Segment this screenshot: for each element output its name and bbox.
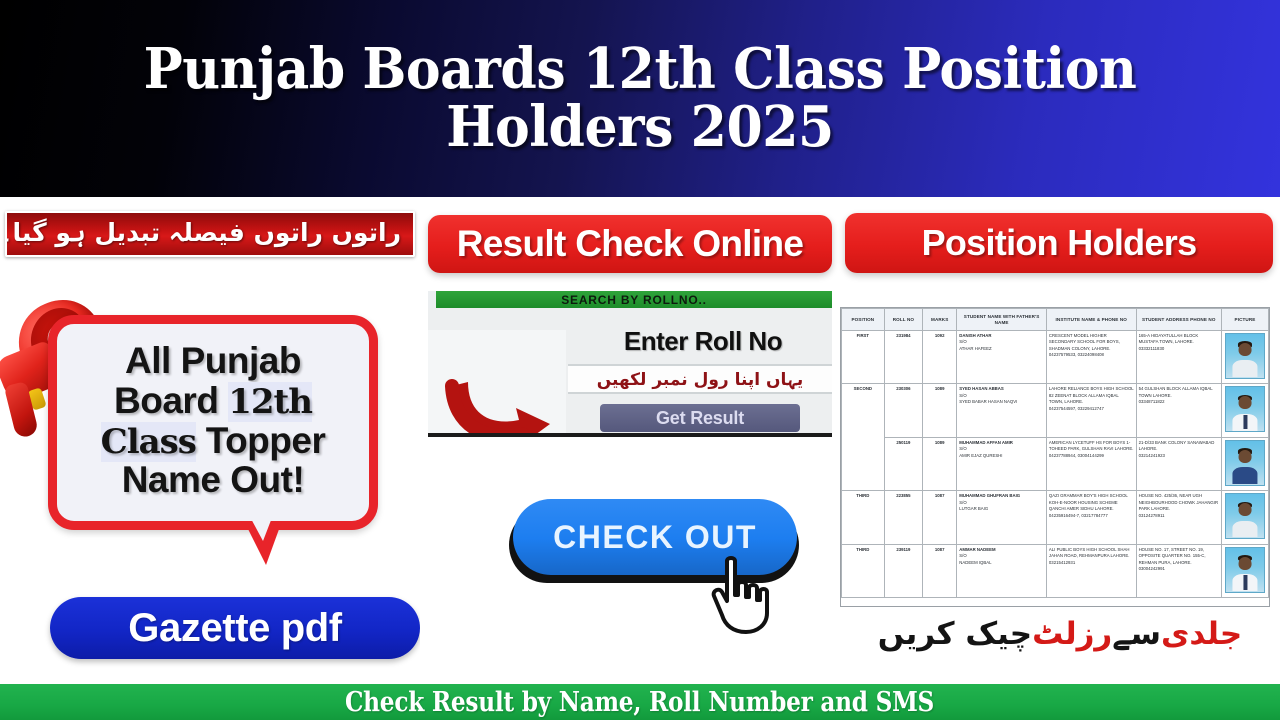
result-check-online-label: Result Check Online xyxy=(457,223,804,265)
cell-picture xyxy=(1221,331,1268,384)
cell-position: FIRST xyxy=(842,331,885,384)
institute-phone: 04235916494-7, 03217784777 xyxy=(1049,513,1108,518)
institute-phone: 04237788944, 03004144299 xyxy=(1049,453,1104,458)
table-row: 250119 1089 MUHAMMAD AFFAN AMIR S/O AMIR… xyxy=(842,437,1269,490)
bubble-highlight-12th: 12th xyxy=(228,382,312,422)
checkout-label: CHECK OUT xyxy=(553,519,757,556)
position-holders-label: Position Holders xyxy=(922,222,1197,264)
student-phone: 03348711822 xyxy=(1139,399,1165,404)
get-result-label: Get Result xyxy=(656,408,744,429)
cell-marks: 1089 xyxy=(923,384,957,437)
cell-institute: QAZI GRAMMAR BOY'S HIGH SCHOOL KOH-E-NOO… xyxy=(1046,491,1136,544)
search-by-rollno-label: SEARCH BY ROLLNO.. xyxy=(561,293,707,307)
cell-roll-no: 231984 xyxy=(884,331,922,384)
student-name: SYED HASAN ABBAS xyxy=(959,386,1044,392)
right-panel: Position Holders POSITION ROLL NO MARKS … xyxy=(840,197,1280,684)
position-holders-table[interactable]: POSITION ROLL NO MARKS STUDENT NAME WITH… xyxy=(840,307,1270,607)
student-name: DANISH ATHAR xyxy=(959,333,1044,339)
table-row: THIRD 223855 1087 MUHAMMAD GHUFRAN BAIG … xyxy=(842,491,1269,544)
table-row: SECOND 230306 1089 SYED HASAN ABBAS S/O … xyxy=(842,384,1269,437)
father-name: ATHAR HAFEEZ xyxy=(959,346,991,351)
cell-student-name: MUHAMMAD GHUFRAN BAIG S/O LUTGAR BAIG xyxy=(957,491,1047,544)
student-phone: 03004242991 xyxy=(1139,566,1165,571)
cell-position: SECOND xyxy=(842,384,885,491)
cell-institute: ALI PUBLIC BOYS HIGH SCHOOL SHAH JAHAN R… xyxy=(1046,544,1136,597)
student-photo xyxy=(1225,493,1265,539)
left-panel: راتوں راتوں فیصلہ تبدیل ہو گیا۔ All Punj… xyxy=(0,197,420,684)
cell-address: 54 GULSHAN BLOCK ALLAMA IQBAL TOWN LAHOR… xyxy=(1136,384,1221,437)
col-roll-no: ROLL NO xyxy=(884,309,922,331)
roll-no-input-placeholder: یہاں اپنا رول نمبر لکھیں xyxy=(597,369,804,390)
student-address: 165-A HIDAYATULLAH BLOCK MUSTAFA TOWN, L… xyxy=(1139,333,1199,344)
gazette-pdf-button[interactable]: Gazette pdf xyxy=(50,597,420,659)
hand-pointer-icon xyxy=(705,555,775,635)
student-address: HOUSE NO. 17, STREET NO. 19, OPPOSITE QU… xyxy=(1139,547,1206,565)
col-institute: INSTITUTE NAME & PHONE NO xyxy=(1046,309,1136,331)
get-result-button[interactable]: Get Result xyxy=(600,404,800,432)
cell-marks: 1087 xyxy=(923,544,957,597)
cell-institute: AMERICAN LYCETUFF HS FOR BOYS 1-TOHEED P… xyxy=(1046,437,1136,490)
student-address: 21-D/33 BANK COLONY SANAWABAD LAHORE. xyxy=(1139,440,1215,451)
urdu-news-banner: راتوں راتوں فیصلہ تبدیل ہو گیا۔ xyxy=(5,211,415,257)
table-row: FIRST 231984 1092 DANISH ATHAR S/O ATHAR… xyxy=(842,331,1269,384)
col-picture: PICTURE xyxy=(1221,309,1268,331)
student-phone: 03214241923 xyxy=(1139,453,1165,458)
bubble-line-2-a: Board xyxy=(114,380,228,421)
institute-name: QAZI GRAMMAR BOY'S HIGH SCHOOL KOH-E-NOO… xyxy=(1049,493,1128,511)
urdu-black-2: چیک کریں xyxy=(878,616,1032,652)
footer-text: Check Result by Name, Roll Number and SM… xyxy=(345,687,934,718)
student-photo xyxy=(1225,440,1265,486)
cell-institute: LAHORE RELIANCE BOYS HIGH SCHOOL 82 ZEEN… xyxy=(1046,384,1136,437)
speech-bubble-tail-inner xyxy=(249,515,273,541)
curved-arrow-icon xyxy=(438,368,558,437)
urdu-check-result-text: جلدی سے رزلٹ چیک کریں xyxy=(850,605,1270,663)
cell-picture xyxy=(1221,491,1268,544)
bubble-line-4: Name Out! xyxy=(122,460,305,500)
cell-marks: 1092 xyxy=(923,331,957,384)
student-phone: 03124278911 xyxy=(1139,513,1165,518)
student-photo xyxy=(1225,333,1265,379)
urdu-red-1: جلدی xyxy=(1161,616,1242,652)
page-title: Punjab Boards 12th Class Position Holder… xyxy=(63,41,1216,155)
father-name: LUTGAR BAIG xyxy=(959,506,988,511)
gazette-pdf-label: Gazette pdf xyxy=(128,606,341,651)
footer-banner: Check Result by Name, Roll Number and SM… xyxy=(0,684,1280,720)
cell-address: HOUSE NO. 425/36, NEAR UGH NEIGHBOURHOOD… xyxy=(1136,491,1221,544)
father-name: NADEEM IQBAL xyxy=(959,560,991,565)
institute-name: LAHORE RELIANCE BOYS HIGH SCHOOL 82 ZEEN… xyxy=(1049,386,1134,404)
cell-picture xyxy=(1221,544,1268,597)
student-address: HOUSE NO. 425/36, NEAR UGH NEIGHBOURHOOD… xyxy=(1139,493,1219,511)
table-header-row: POSITION ROLL NO MARKS STUDENT NAME WITH… xyxy=(842,309,1269,331)
arrow-area xyxy=(428,330,566,437)
poster-root: Punjab Boards 12th Class Position Holder… xyxy=(0,0,1280,720)
institute-name: AMERICAN LYCETUFF HS FOR BOYS 1-TOHEED P… xyxy=(1049,440,1134,451)
roll-no-input[interactable]: یہاں اپنا رول نمبر لکھیں xyxy=(568,364,832,394)
cell-student-name: MUHAMMAD AFFAN AMIR S/O AMIR EJAZ QURESH… xyxy=(957,437,1047,490)
cell-student-name: SYED HASAN ABBAS S/O SYED BABAR HASAN NA… xyxy=(957,384,1047,437)
student-photo xyxy=(1225,386,1265,432)
cell-position: THIRD xyxy=(842,491,885,544)
col-position: POSITION xyxy=(842,309,885,331)
student-address: 54 GULSHAN BLOCK ALLAMA IQBAL TOWN LAHOR… xyxy=(1139,386,1213,397)
institute-phone: 04237579533, 03224098408 xyxy=(1049,352,1104,357)
position-holders-badge[interactable]: Position Holders xyxy=(845,213,1273,273)
student-relation: S/O xyxy=(959,339,966,344)
table-row: THIRD 239119 1087 AMMAR NADEEM S/O NADEE… xyxy=(842,544,1269,597)
search-by-rollno-bar: SEARCH BY ROLLNO.. xyxy=(436,291,832,308)
student-photo xyxy=(1225,547,1265,593)
speech-bubble: All Punjab Board 12th Class Topper Name … xyxy=(48,315,378,530)
institute-phone: 03215412931 xyxy=(1049,560,1075,565)
cell-roll-no: 223855 xyxy=(884,491,922,544)
urdu-black-1: سے xyxy=(1112,616,1161,652)
bubble-line-1: All Punjab xyxy=(125,341,301,381)
cell-address: 21-D/33 BANK COLONY SANAWABAD LAHORE. 03… xyxy=(1136,437,1221,490)
result-check-online-badge[interactable]: Result Check Online xyxy=(428,215,832,273)
col-address: STUDENT ADDRESS PHONE NO xyxy=(1136,309,1221,331)
urdu-news-text: راتوں راتوں فیصلہ تبدیل ہو گیا۔ xyxy=(5,218,413,251)
father-name: SYED BABAR HASAN NAQVI xyxy=(959,399,1017,404)
cell-roll-no: 239119 xyxy=(884,544,922,597)
cell-institute: CRESCENT MODEL HIGHER SECONDARY SCHOOL F… xyxy=(1046,331,1136,384)
institute-name: ALI PUBLIC BOYS HIGH SCHOOL SHAH JAHAN R… xyxy=(1049,547,1130,558)
bubble-line-3: Class Topper xyxy=(101,421,326,461)
cell-position: THIRD xyxy=(842,544,885,597)
bubble-highlight-class: Class xyxy=(101,422,196,462)
middle-panel: Result Check Online SEARCH BY ROLLNO.. E… xyxy=(420,197,840,684)
cell-marks: 1089 xyxy=(923,437,957,490)
student-relation: S/O xyxy=(959,500,966,505)
student-name: MUHAMMAD GHUFRAN BAIG xyxy=(959,493,1044,499)
col-marks: MARKS xyxy=(923,309,957,331)
cell-marks: 1087 xyxy=(923,491,957,544)
cell-student-name: DANISH ATHAR S/O ATHAR HAFEEZ xyxy=(957,331,1047,384)
col-student-name: STUDENT NAME WITH FATHER'S NAME xyxy=(957,309,1047,331)
cell-picture xyxy=(1221,437,1268,490)
bubble-line-3-b: Topper xyxy=(196,420,325,461)
roll-no-search-form: SEARCH BY ROLLNO.. Enter Roll No یہاں اپ… xyxy=(428,291,832,437)
father-name: AMIR EJAZ QURESHI xyxy=(959,453,1002,458)
header-banner: Punjab Boards 12th Class Position Holder… xyxy=(0,0,1280,197)
student-relation: S/O xyxy=(959,553,966,558)
cell-roll-no: 230306 xyxy=(884,384,922,437)
urdu-red-2: رزلٹ xyxy=(1032,616,1112,652)
bubble-line-2: Board 12th xyxy=(114,381,312,421)
cell-picture xyxy=(1221,384,1268,437)
institute-phone: 04237544597, 03229412747 xyxy=(1049,406,1104,411)
student-phone: 03332111830 xyxy=(1139,346,1165,351)
checkout-area: CHECK OUT xyxy=(505,497,805,627)
student-name: AMMAR NADEEM xyxy=(959,547,1044,553)
student-relation: S/O xyxy=(959,393,966,398)
cell-student-name: AMMAR NADEEM S/O NADEEM IQBAL xyxy=(957,544,1047,597)
student-name: MUHAMMAD AFFAN AMIR xyxy=(959,440,1044,446)
cell-roll-no: 250119 xyxy=(884,437,922,490)
institute-name: CRESCENT MODEL HIGHER SECONDARY SCHOOL F… xyxy=(1049,333,1120,351)
enter-roll-no-label: Enter Roll No xyxy=(578,326,828,357)
cell-address: HOUSE NO. 17, STREET NO. 19, OPPOSITE QU… xyxy=(1136,544,1221,597)
cell-address: 165-A HIDAYATULLAH BLOCK MUSTAFA TOWN, L… xyxy=(1136,331,1221,384)
student-relation: S/O xyxy=(959,446,966,451)
